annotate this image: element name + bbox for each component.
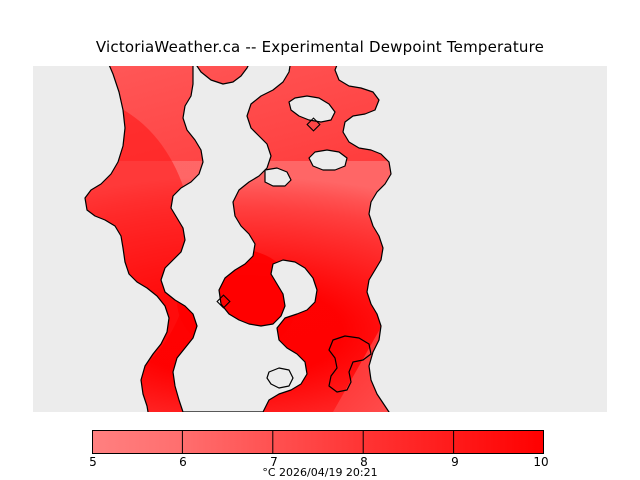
page-title: VictoriaWeather.ca -- Experimental Dewpo… xyxy=(0,38,640,56)
map-canvas[interactable] xyxy=(33,66,607,412)
colorbar-units-timestamp: °C 2026/04/19 20:21 xyxy=(0,466,640,479)
map-panel[interactable] xyxy=(33,66,607,412)
colorbar-gradient xyxy=(92,430,544,454)
colorbar[interactable] xyxy=(92,430,544,454)
colorbar-canvas[interactable] xyxy=(92,430,544,454)
weather-map-page: VictoriaWeather.ca -- Experimental Dewpo… xyxy=(0,0,640,480)
land-small-island-north xyxy=(309,150,347,170)
